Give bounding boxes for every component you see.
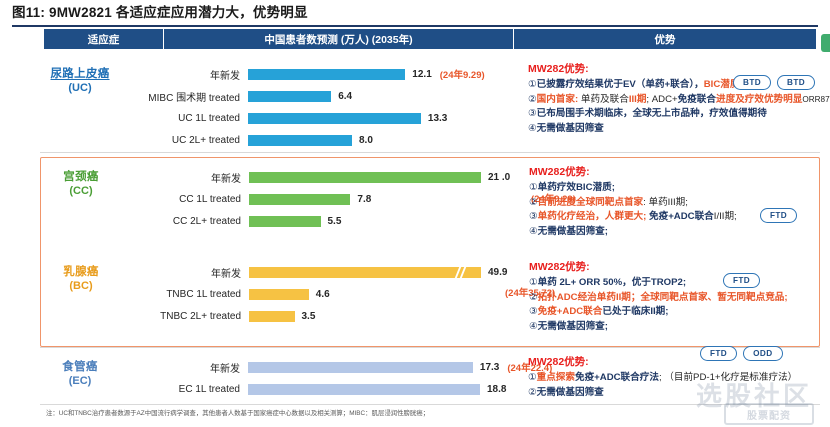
bar-label: 年新发	[121, 265, 249, 280]
advantage-index: ④	[528, 123, 537, 134]
indication-abbr: (BC)	[69, 279, 92, 293]
bar	[249, 289, 309, 300]
edge-chip-icon	[821, 34, 830, 52]
advantage-text: 免疫+ADC联合	[538, 306, 603, 317]
bar-value: 4.6	[316, 289, 330, 300]
advantage-item: ④无需做基因筛查	[528, 122, 830, 137]
bar-row: TNBC 1L treated4.6	[121, 283, 521, 305]
advantages-heading: MW282优势:	[529, 166, 813, 179]
indication-name: 宫颈癌	[63, 170, 98, 184]
advantage-text: 拓扑ADC经治单药II期；全球同靶点首家、暂无同靶点竞品;	[538, 292, 788, 303]
designation-badges: FTDODD	[700, 346, 783, 361]
advantage-text: 免疫联合	[678, 94, 716, 105]
designation-badges: FTD	[723, 273, 760, 288]
advantages-cell-ec: MW282优势:①重点探索免疫+ADC联合疗法; （目前PD-1+化疗是标准疗法…	[520, 348, 820, 404]
advantage-text: 目前进度全球同靶点首家	[538, 197, 644, 208]
bar-chart-uc: 年新发12.1(24年9.29)MIBC 围术期 treated6.4UC 1L…	[120, 55, 520, 150]
advantage-text: 单药化疗经治，人群更大;	[538, 211, 647, 222]
advantage-item: ④无需做基因筛查;	[529, 320, 813, 335]
bar-row: CC 1L treated7.8(24年9.29)	[121, 188, 521, 210]
advantage-item: ③免疫+ADC联合已处于临床II期;	[529, 305, 813, 320]
advantage-text: ; （目前PD-1+化疗是标准疗法）	[659, 372, 797, 383]
bar-label: 年新发	[121, 170, 249, 185]
advantage-item: ①单药 2L+ ORR 50%，优于TROP2;	[529, 276, 813, 291]
figure-title-bar: 图11: 9MW2821 各适应症应用潜力大，优势明显	[12, 2, 818, 26]
badge-ftd: FTD	[700, 346, 737, 361]
bar	[248, 135, 352, 146]
bar-label: TNBC 2L+ treated	[121, 311, 249, 322]
bar-value: 17.3	[480, 362, 499, 373]
bar-label: CC 1L treated	[121, 194, 249, 205]
group-divider	[40, 404, 820, 405]
bar-track: 18.8	[248, 378, 520, 400]
advantage-index: ②	[528, 387, 537, 398]
bar	[249, 311, 295, 322]
bar-value: 6.4	[338, 91, 352, 102]
year-note: (24年9.29)	[440, 67, 485, 81]
indication-abbr: (EC)	[69, 374, 92, 388]
column-header-patients: 中国患者数预测 (万人) (2035年)	[164, 29, 514, 49]
bar-value: 49.9	[488, 267, 507, 278]
advantage-text: 无需做基因筛查	[537, 387, 604, 398]
advantage-text: I/II期;	[714, 211, 737, 222]
advantage-index: ①	[528, 372, 537, 383]
advantage-text: ORR87.5%	[802, 95, 830, 104]
bar-track: 49.9(24年35.72)	[249, 261, 521, 283]
bar-chart-cc: 年新发21 .0CC 1L treated7.8(24年9.29)CC 2L+ …	[121, 158, 521, 253]
bar-label: 年新发	[120, 360, 248, 375]
bar-row: CC 2L+ treated5.5	[121, 210, 521, 232]
badge-ftd: FTD	[723, 273, 760, 288]
advantage-index: ②	[529, 197, 538, 208]
advantage-text: 免疫+ADC联合疗法	[575, 372, 659, 383]
bar-track: 6.4	[248, 85, 520, 107]
bar	[248, 113, 421, 124]
slide-figure: 图11: 9MW2821 各适应症应用潜力大，优势明显 适应症 中国患者数预测 …	[0, 0, 830, 427]
indication-name: 尿路上皮癌	[51, 67, 110, 81]
badge-ftd: FTD	[760, 208, 797, 223]
advantage-index: ①	[529, 277, 538, 288]
bar	[248, 362, 473, 373]
advantage-text: 已处于临床II期;	[602, 306, 668, 317]
bar	[249, 194, 350, 205]
advantages-cell-cc: MW282优势:①单药疗效BIC潜质;②目前进度全球同靶点首家: 单药III期;…	[521, 158, 819, 253]
indication-abbr: (CC)	[69, 184, 92, 198]
bar-label: CC 2L+ treated	[121, 216, 249, 227]
bar-value: 12.1	[412, 69, 431, 80]
bar-chart-ec: 年新发17.3(24年22.4)EC 1L treated18.8	[120, 348, 520, 404]
indication-cell-ec: 食管癌(EC)	[40, 348, 120, 404]
advantage-index: ④	[529, 226, 538, 237]
advantage-text: 免疫+ADC联合	[646, 211, 713, 222]
indication-cell-uc: 尿路上皮癌(UC)	[40, 55, 120, 150]
column-header-advantage: 优势	[514, 29, 816, 49]
bar	[248, 91, 331, 102]
badge-odd: ODD	[743, 346, 782, 361]
designation-badges: FTD	[760, 208, 797, 223]
advantage-text: 已布局围手术期临床，全球无上市品种，疗效值得期待	[537, 108, 767, 119]
advantage-text: 单药及联合	[578, 94, 629, 105]
advantage-item: ②拓扑ADC经治单药II期；全球同靶点首家、暂无同靶点竞品;	[529, 291, 813, 306]
advantage-index: ③	[528, 108, 537, 119]
bar-track: 17.3(24年22.4)	[248, 356, 552, 378]
bar-track: 3.5	[249, 305, 521, 327]
bar-row: EC 1L treated18.8	[120, 378, 520, 400]
designation-badges: BTDBTD	[733, 75, 815, 90]
advantages-heading: MW282优势:	[529, 261, 813, 274]
bar-value: 8.0	[359, 135, 373, 146]
bar-label: UC 2L+ treated	[120, 135, 248, 146]
bar-row: TNBC 2L+ treated3.5	[121, 305, 521, 327]
bar-value: 5.5	[328, 216, 342, 227]
advantages-cell-bc: MW282优势:①单药 2L+ ORR 50%，优于TROP2;②拓扑ADC经治…	[521, 253, 819, 346]
title-divider	[12, 25, 818, 27]
badge-btd: BTD	[777, 75, 815, 90]
bar-value: 3.5	[302, 311, 316, 322]
bar-track: 21 .0	[249, 166, 521, 188]
page-title: 图11: 9MW2821 各适应症应用潜力大，优势明显	[12, 2, 818, 24]
advantage-index: ③	[529, 211, 538, 222]
bar	[249, 267, 481, 278]
badge-btd: BTD	[733, 75, 771, 90]
advantage-item: ③已布局围手术期临床，全球无上市品种，疗效值得期待	[528, 107, 830, 122]
advantage-item: ②无需做基因筛查	[528, 386, 814, 401]
bar	[249, 216, 321, 227]
advantage-index: ①	[528, 79, 537, 90]
bar	[248, 69, 405, 80]
advantage-index: ③	[529, 306, 538, 317]
advantage-text: 无需做基因筛查;	[538, 226, 608, 237]
bar-chart-bc: 年新发49.9(24年35.72)TNBC 1L treated4.6TNBC …	[121, 253, 521, 346]
advantage-index: ④	[529, 321, 538, 332]
row-group-uc: 尿路上皮癌(UC)年新发12.1(24年9.29)MIBC 围术期 treate…	[40, 55, 820, 150]
bar-track: 7.8(24年9.29)	[249, 188, 521, 210]
bar	[249, 172, 481, 183]
bar-row: 年新发17.3(24年22.4)	[120, 356, 520, 378]
advantage-index: ①	[529, 182, 538, 193]
group-divider	[40, 152, 820, 153]
advantage-text: ; ADC+	[646, 94, 677, 105]
bar	[248, 384, 480, 395]
advantage-text: : 单药III期;	[643, 197, 688, 208]
bar-label: TNBC 1L treated	[121, 289, 249, 300]
bar-row: MIBC 围术期 treated6.4	[120, 85, 520, 107]
table-header-row: 适应症 中国患者数预测 (万人) (2035年) 优势	[44, 29, 816, 49]
bar-label: EC 1L treated	[120, 384, 248, 395]
indication-abbr: (UC)	[68, 81, 91, 95]
bar-value: 7.8	[357, 194, 371, 205]
bar-label: 年新发	[120, 67, 248, 82]
bar-track: 5.5	[249, 210, 521, 232]
bar-value: 21 .0	[488, 172, 510, 183]
row-group-ec: 食管癌(EC)年新发17.3(24年22.4)EC 1L treated18.8…	[40, 348, 820, 404]
advantages-cell-uc: MW282优势:①已披露疗效结果优于EV（单药+联合），BIC潜质:②国内首家:…	[520, 55, 830, 150]
advantage-text: 单药疗效BIC潜质;	[538, 182, 615, 193]
bar-track: 4.6	[249, 283, 521, 305]
bar-row: UC 1L treated13.3	[120, 107, 520, 129]
indication-name: 食管癌	[62, 360, 97, 374]
bar-value: 18.8	[487, 384, 506, 395]
advantage-item: ②国内首家: 单药及联合III期; ADC+免疫联合进度及疗效优势明显ORR87…	[528, 93, 830, 108]
advantage-text: 无需做基因筛查;	[538, 321, 608, 332]
bar-row: UC 2L+ treated8.0	[120, 129, 520, 151]
axis-break-mark	[455, 265, 467, 280]
advantage-text: III期	[629, 94, 647, 105]
bar-track: 8.0	[248, 129, 520, 151]
column-header-indication: 适应症	[44, 29, 164, 49]
footnote: 注：UC和TNBC治疗患者数源于AZ中国流行病学调查，其他患者人数基于国家癌症中…	[46, 409, 806, 418]
indication-cell-cc: 宫颈癌(CC)	[41, 158, 121, 253]
advantage-item: ①重点探索免疫+ADC联合疗法; （目前PD-1+化疗是标准疗法）	[528, 371, 814, 386]
advantage-text: 无需做基因筛查	[537, 123, 604, 134]
advantage-text: 国内首家:	[537, 94, 579, 105]
bar-label: MIBC 围术期 treated	[120, 89, 248, 104]
bar-row: 年新发21 .0	[121, 166, 521, 188]
row-group-bc: 乳腺癌(BC)年新发49.9(24年35.72)TNBC 1L treated4…	[40, 253, 820, 347]
indication-cell-bc: 乳腺癌(BC)	[41, 253, 121, 346]
indication-name: 乳腺癌	[63, 265, 98, 279]
bar-track: 13.3	[248, 107, 520, 129]
row-group-cc: 宫颈癌(CC)年新发21 .0CC 1L treated7.8(24年9.29)…	[40, 157, 820, 253]
advantage-text: 进度及疗效优势明显	[716, 94, 802, 105]
bar-track: 12.1(24年9.29)	[248, 63, 520, 85]
bar-value: 13.3	[428, 113, 447, 124]
bar-row: 年新发12.1(24年9.29)	[120, 63, 520, 85]
advantage-text: 已披露疗效结果优于EV（单药+联合），	[537, 79, 704, 90]
bar-row: 年新发49.9(24年35.72)	[121, 261, 521, 283]
advantage-item: ①单药疗效BIC潜质;	[529, 181, 813, 196]
bar-label: UC 1L treated	[120, 113, 248, 124]
advantage-index: ②	[529, 292, 538, 303]
advantage-item: ④无需做基因筛查;	[529, 225, 813, 240]
advantage-index: ②	[528, 94, 537, 105]
advantage-text: 单药 2L+ ORR 50%，优于TROP2;	[538, 277, 686, 288]
advantage-text: 重点探索	[537, 372, 575, 383]
